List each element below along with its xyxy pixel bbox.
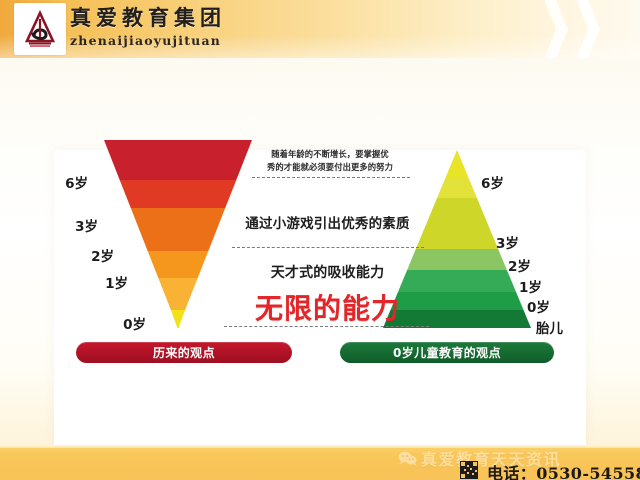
right-age-label-1: 1岁 — [519, 276, 542, 296]
left-age-label-6: 6岁 — [46, 172, 88, 192]
right-age-label-2: 2岁 — [508, 255, 531, 275]
screenshot-root: 真爱教育集团 zhenaijiaoyujituan 6岁 3岁 2岁 1岁 0岁… — [0, 0, 640, 480]
left-age-label-3: 3岁 — [56, 215, 98, 235]
center-note-line-1: 随着年龄的不断增长，要掌握优 — [255, 148, 405, 161]
pyramid-band — [104, 180, 252, 208]
right-age-label-3: 3岁 — [496, 232, 519, 252]
left-age-label-2: 2岁 — [72, 245, 114, 265]
right-age-label-fetus: 胎儿 — [536, 317, 563, 337]
pyramid-band — [383, 177, 531, 198]
center-line-2: 通过小游戏引出优秀的素质 — [225, 212, 430, 232]
center-note-block: 随着年龄的不断增长，要掌握优 秀的才能就必须要付出更多的努力 — [255, 148, 405, 173]
brand-name-pinyin: zhenaijiaoyujituan — [70, 32, 226, 49]
logo-mark-icon — [21, 10, 59, 48]
center-line-3: 天才式的吸收能力 — [225, 262, 430, 282]
legend-pill-traditional[interactable]: 历来的观点 — [76, 342, 292, 363]
left-age-label-0: 0岁 — [104, 313, 146, 333]
pyramid-band — [383, 150, 531, 177]
brand-text-block: 真爱教育集团 zhenaijiaoyujituan — [70, 4, 226, 49]
qr-code-icon — [460, 461, 478, 479]
brand-name-cn: 真爱教育集团 — [70, 4, 226, 32]
center-note-line-2: 秀的才能就必须要付出更多的努力 — [255, 161, 405, 174]
center-headline: 无限的能力 — [215, 287, 440, 327]
divider-dashed — [224, 326, 429, 327]
legend-pill-zero-age[interactable]: 0岁儿童教育的观点 — [340, 342, 554, 363]
wechat-icon — [398, 451, 417, 466]
right-age-label-6: 6岁 — [481, 172, 504, 192]
right-age-label-0: 0岁 — [527, 296, 550, 316]
page-footer: 真爱教育天天资讯 电话：0530-5455888 — [0, 445, 640, 480]
pyramid-band — [104, 140, 252, 180]
page-header: 真爱教育集团 zhenaijiaoyujituan — [0, 0, 640, 58]
left-age-label-1: 1岁 — [86, 272, 128, 292]
divider-dashed — [232, 247, 424, 248]
footer-phone: 电话：0530-5455888 — [487, 460, 640, 480]
brand-logo — [14, 3, 66, 55]
divider-dashed — [252, 177, 410, 178]
